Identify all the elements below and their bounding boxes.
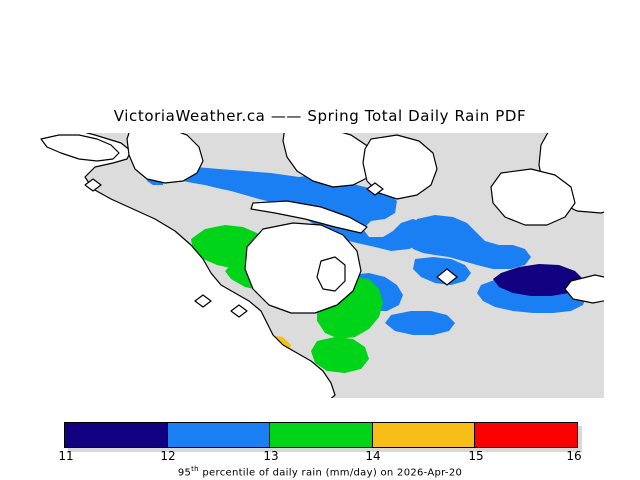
colorbar[interactable] [64, 422, 578, 448]
map-panel[interactable] [35, 133, 604, 398]
colorbar-tick-13: 13 [263, 449, 278, 463]
colorbar-tick-15: 15 [468, 449, 483, 463]
colorbar-ticks: 11 12 13 14 15 16 [0, 449, 640, 465]
colorbar-tick-14: 14 [365, 449, 380, 463]
page-root: VictoriaWeather.ca —— Spring Total Daily… [0, 0, 640, 480]
caption-rest: percentile of daily rain (mm/day) on 202… [199, 467, 462, 478]
colorbar-caption: 95th percentile of daily rain (mm/day) o… [0, 465, 640, 478]
colorbar-segment-14-15[interactable] [372, 423, 475, 447]
caption-prefix: 95 [178, 467, 191, 478]
caption-ordinal-suffix: th [191, 465, 199, 473]
colorbar-tick-11: 11 [58, 449, 73, 463]
colorbar-tick-16: 16 [566, 449, 581, 463]
page-title: VictoriaWeather.ca —— Spring Total Daily… [0, 107, 640, 125]
land-central-inner-feature [317, 257, 345, 291]
colorbar-tick-12: 12 [160, 449, 175, 463]
colorbar-segment-13-14[interactable] [269, 423, 372, 447]
colorbar-segment-15-16[interactable] [474, 423, 577, 447]
colorbar-panel: 11 12 13 14 15 16 95th percentile of dai… [0, 418, 640, 480]
colorbar-segment-11-12[interactable] [65, 423, 167, 447]
map-canvas[interactable] [35, 133, 604, 398]
colorbar-segment-12-13[interactable] [167, 423, 270, 447]
